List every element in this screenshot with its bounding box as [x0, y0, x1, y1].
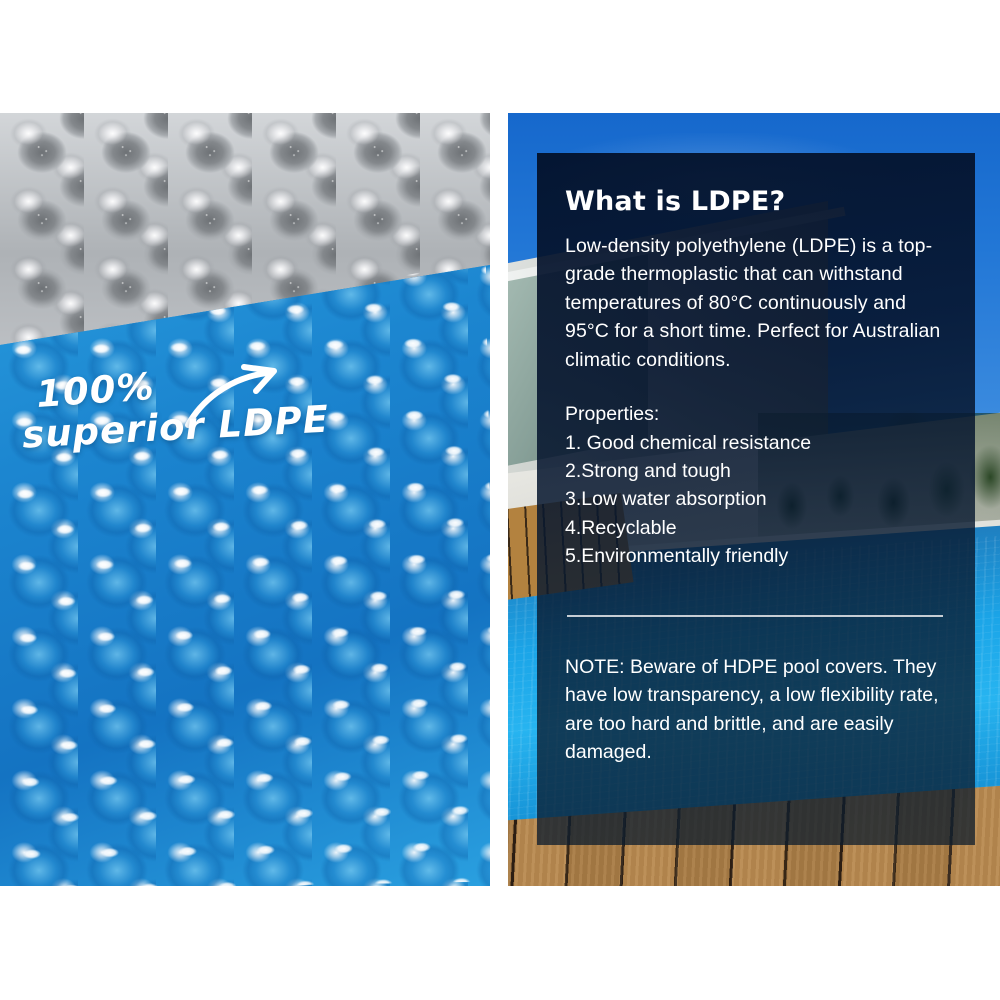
- list-item: 1. Good chemical resistance: [565, 429, 945, 457]
- card-title: What is LDPE?: [565, 187, 945, 217]
- properties-list: 1. Good chemical resistance 2.Strong and…: [565, 429, 945, 571]
- section-divider: [567, 615, 943, 617]
- left-image-panel: 100% superior LDPE: [0, 113, 490, 886]
- right-image-panel: What is LDPE? Low-density polyethylene (…: [508, 113, 1000, 886]
- product-infographic: 100% superior LDPE What is LDPE? Low-den…: [0, 0, 1000, 1000]
- list-item: 3.Low water absorption: [565, 485, 945, 513]
- note-text: NOTE: Beware of HDPE pool covers. They h…: [565, 653, 945, 767]
- handwritten-overlay: 100% superior LDPE: [22, 365, 352, 475]
- list-item: 2.Strong and tough: [565, 457, 945, 485]
- list-item: 5.Environmentally friendly: [565, 542, 945, 570]
- ldpe-info-card: What is LDPE? Low-density polyethylene (…: [537, 153, 975, 845]
- card-paragraph: Low-density polyethylene (LDPE) is a top…: [565, 232, 945, 374]
- list-item: 4.Recyclable: [565, 514, 945, 542]
- properties-label: Properties:: [565, 400, 945, 428]
